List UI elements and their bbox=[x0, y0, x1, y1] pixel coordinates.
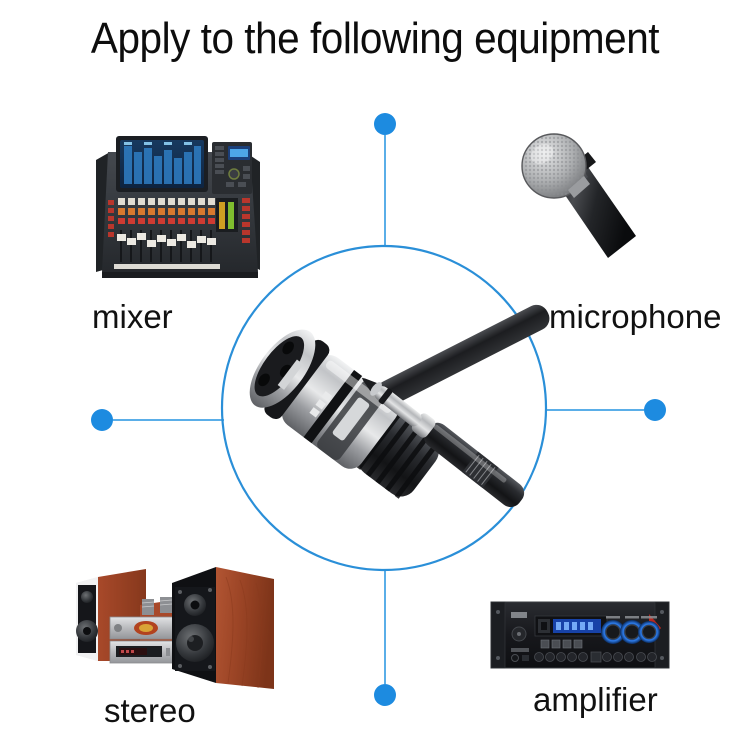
product-image-cable bbox=[228, 298, 558, 528]
product-image-mixer bbox=[88, 122, 268, 282]
label-microphone: microphone bbox=[549, 298, 721, 336]
infographic-page: Apply to the following equipment bbox=[0, 0, 750, 750]
node-dot-right[interactable] bbox=[644, 399, 666, 421]
label-amplifier: amplifier bbox=[533, 681, 658, 719]
node-dot-left[interactable] bbox=[91, 409, 113, 431]
product-image-stereo bbox=[68, 543, 286, 695]
product-image-microphone bbox=[496, 124, 658, 266]
node-dot-bottom[interactable] bbox=[374, 684, 396, 706]
label-stereo: stereo bbox=[104, 692, 196, 730]
label-mixer: mixer bbox=[92, 298, 173, 336]
microphone-illustration bbox=[496, 124, 658, 266]
stereo-illustration bbox=[68, 543, 286, 695]
cable-illustration bbox=[228, 298, 558, 528]
amplifier-illustration bbox=[489, 592, 671, 680]
mixer-illustration bbox=[88, 122, 268, 282]
node-dot-top[interactable] bbox=[374, 113, 396, 135]
product-image-amplifier bbox=[489, 592, 671, 680]
